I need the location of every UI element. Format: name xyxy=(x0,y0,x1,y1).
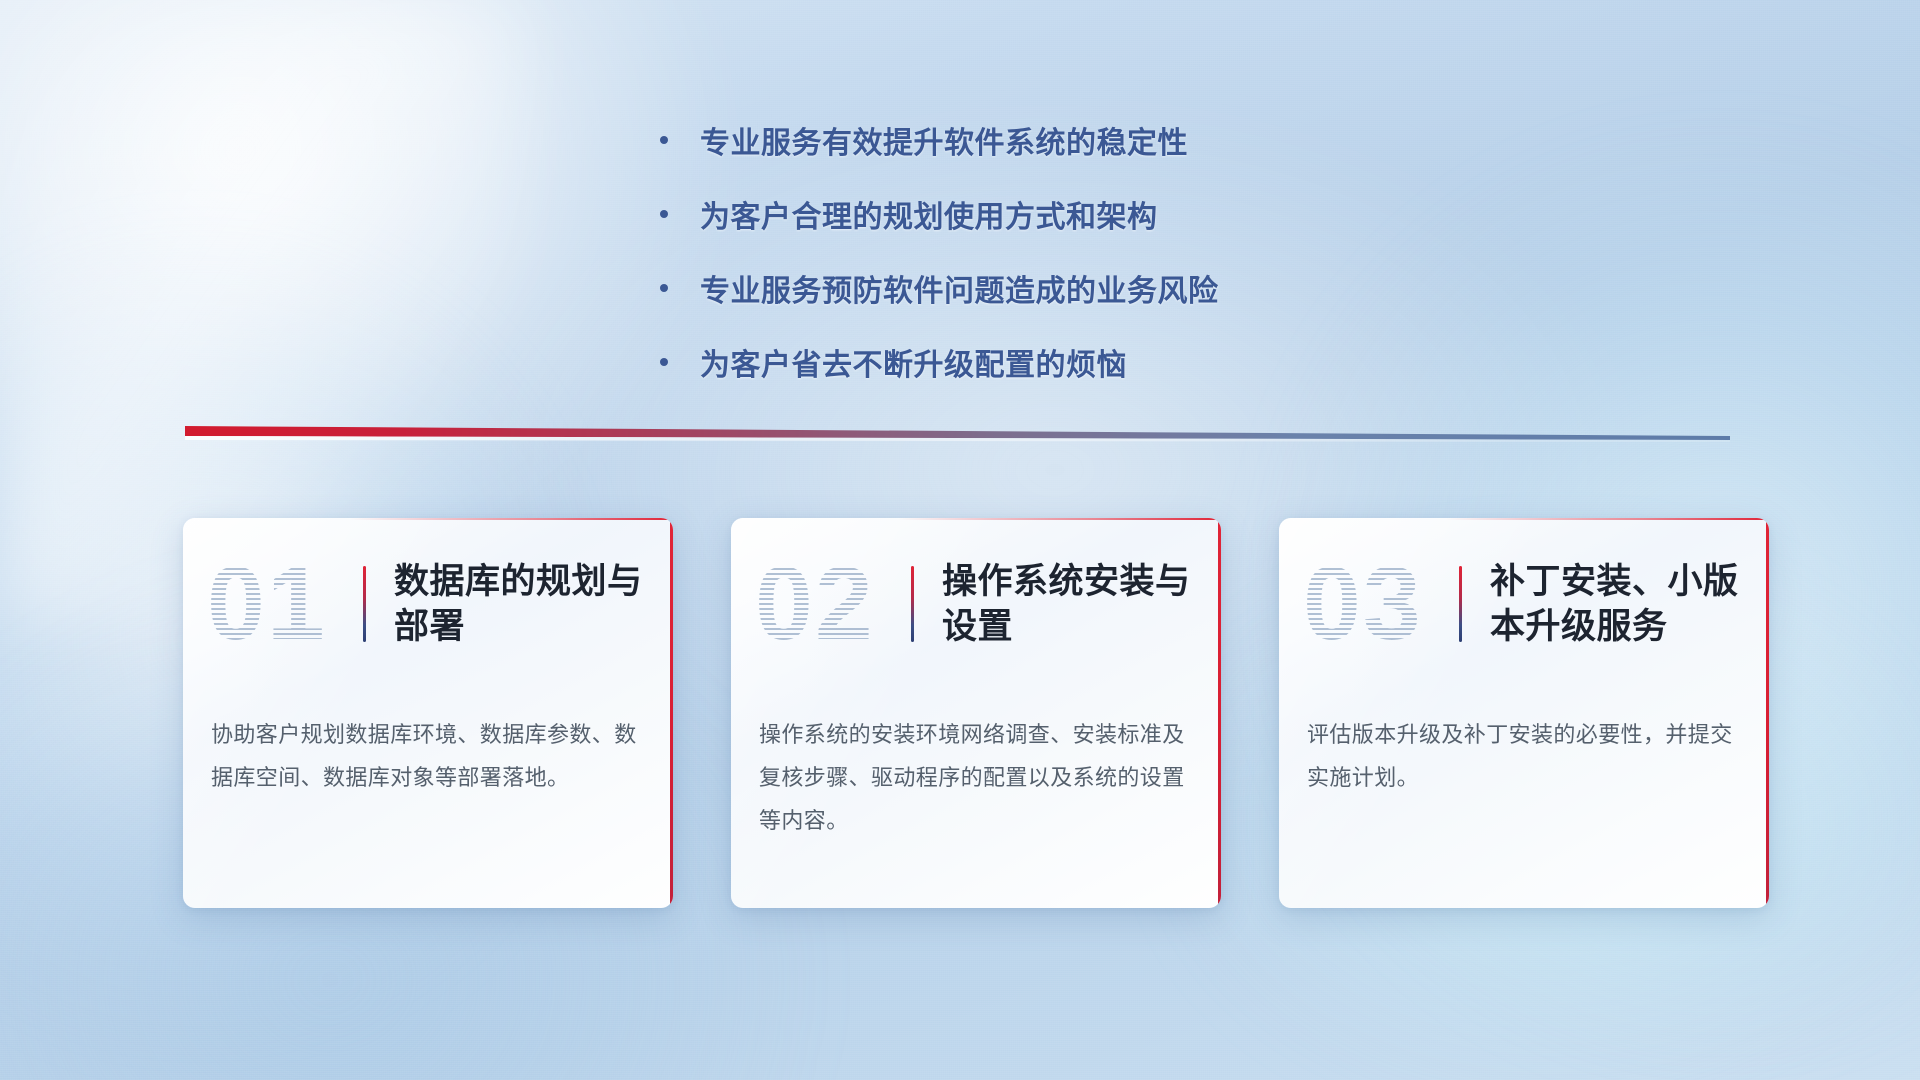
card-divider-bar xyxy=(911,566,914,642)
slide-canvas: 专业服务有效提升软件系统的稳定性 为客户合理的规划使用方式和架构 专业服务预防软… xyxy=(0,0,1920,1080)
benefit-bullet-list: 专业服务有效提升软件系统的稳定性 为客户合理的规划使用方式和架构 专业服务预防软… xyxy=(660,118,1219,384)
bullet-dot-icon xyxy=(660,136,668,144)
card-number-watermark: 03 xyxy=(1303,548,1453,660)
card-description: 操作系统的安装环境网络调查、安装标准及复核步骤、驱动程序的配置以及系统的设置等内… xyxy=(731,690,1221,843)
bullet-item-label: 专业服务预防软件问题造成的业务风险 xyxy=(700,266,1219,310)
card-title: 数据库的规划与部署 xyxy=(394,559,647,650)
card-title: 操作系统安装与设置 xyxy=(942,559,1195,650)
card-number-label: 03 xyxy=(1303,548,1453,660)
card-description: 评估版本升级及补丁安装的必要性，并提交实施计划。 xyxy=(1279,690,1769,800)
card-accent-bar xyxy=(670,518,673,908)
bullet-dot-icon xyxy=(660,210,668,218)
bullet-item: 为客户省去不断升级配置的烦恼 xyxy=(660,340,1219,384)
bullet-item: 专业服务预防软件问题造成的业务风险 xyxy=(660,266,1219,310)
bullet-item: 专业服务有效提升软件系统的稳定性 xyxy=(660,118,1219,162)
card-accent-bar xyxy=(1218,518,1221,908)
card-number-watermark: 02 xyxy=(755,548,905,660)
service-card-02[interactable]: 02 操作系统安装与设置 操作系统的安装环境网络调查、安装标准及复核步骤、驱动程… xyxy=(731,518,1221,908)
bullet-item: 为客户合理的规划使用方式和架构 xyxy=(660,192,1219,236)
card-accent-top-bar xyxy=(1446,518,1769,520)
card-header: 02 操作系统安装与设置 xyxy=(731,518,1221,690)
section-divider xyxy=(185,424,1730,454)
bullet-item-label: 为客户省去不断升级配置的烦恼 xyxy=(700,340,1127,384)
bullet-item-label: 专业服务有效提升软件系统的稳定性 xyxy=(700,118,1188,162)
card-title: 补丁安装、小版本升级服务 xyxy=(1490,559,1743,650)
service-card-01[interactable]: 01 数据库的规划与部署 协助客户规划数据库环境、数据库参数、数据库空间、数据库… xyxy=(183,518,673,908)
service-card-03[interactable]: 03 补丁安装、小版本升级服务 评估版本升级及补丁安装的必要性，并提交实施计划。 xyxy=(1279,518,1769,908)
card-accent-bar xyxy=(1766,518,1769,908)
card-number-label: 01 xyxy=(207,548,357,660)
divider-shape-icon xyxy=(185,424,1730,454)
card-accent-top-bar xyxy=(898,518,1221,520)
card-header: 01 数据库的规划与部署 xyxy=(183,518,673,690)
card-divider-bar xyxy=(1459,566,1462,642)
bullet-dot-icon xyxy=(660,358,668,366)
card-header: 03 补丁安装、小版本升级服务 xyxy=(1279,518,1769,690)
card-accent-top-bar xyxy=(350,518,673,520)
bullet-dot-icon xyxy=(660,284,668,292)
card-description: 协助客户规划数据库环境、数据库参数、数据库空间、数据库对象等部署落地。 xyxy=(183,690,673,800)
card-divider-bar xyxy=(363,566,366,642)
service-card-list: 01 数据库的规划与部署 协助客户规划数据库环境、数据库参数、数据库空间、数据库… xyxy=(183,518,1769,908)
bullet-item-label: 为客户合理的规划使用方式和架构 xyxy=(700,192,1158,236)
card-number-label: 02 xyxy=(755,548,905,660)
card-number-watermark: 01 xyxy=(207,548,357,660)
